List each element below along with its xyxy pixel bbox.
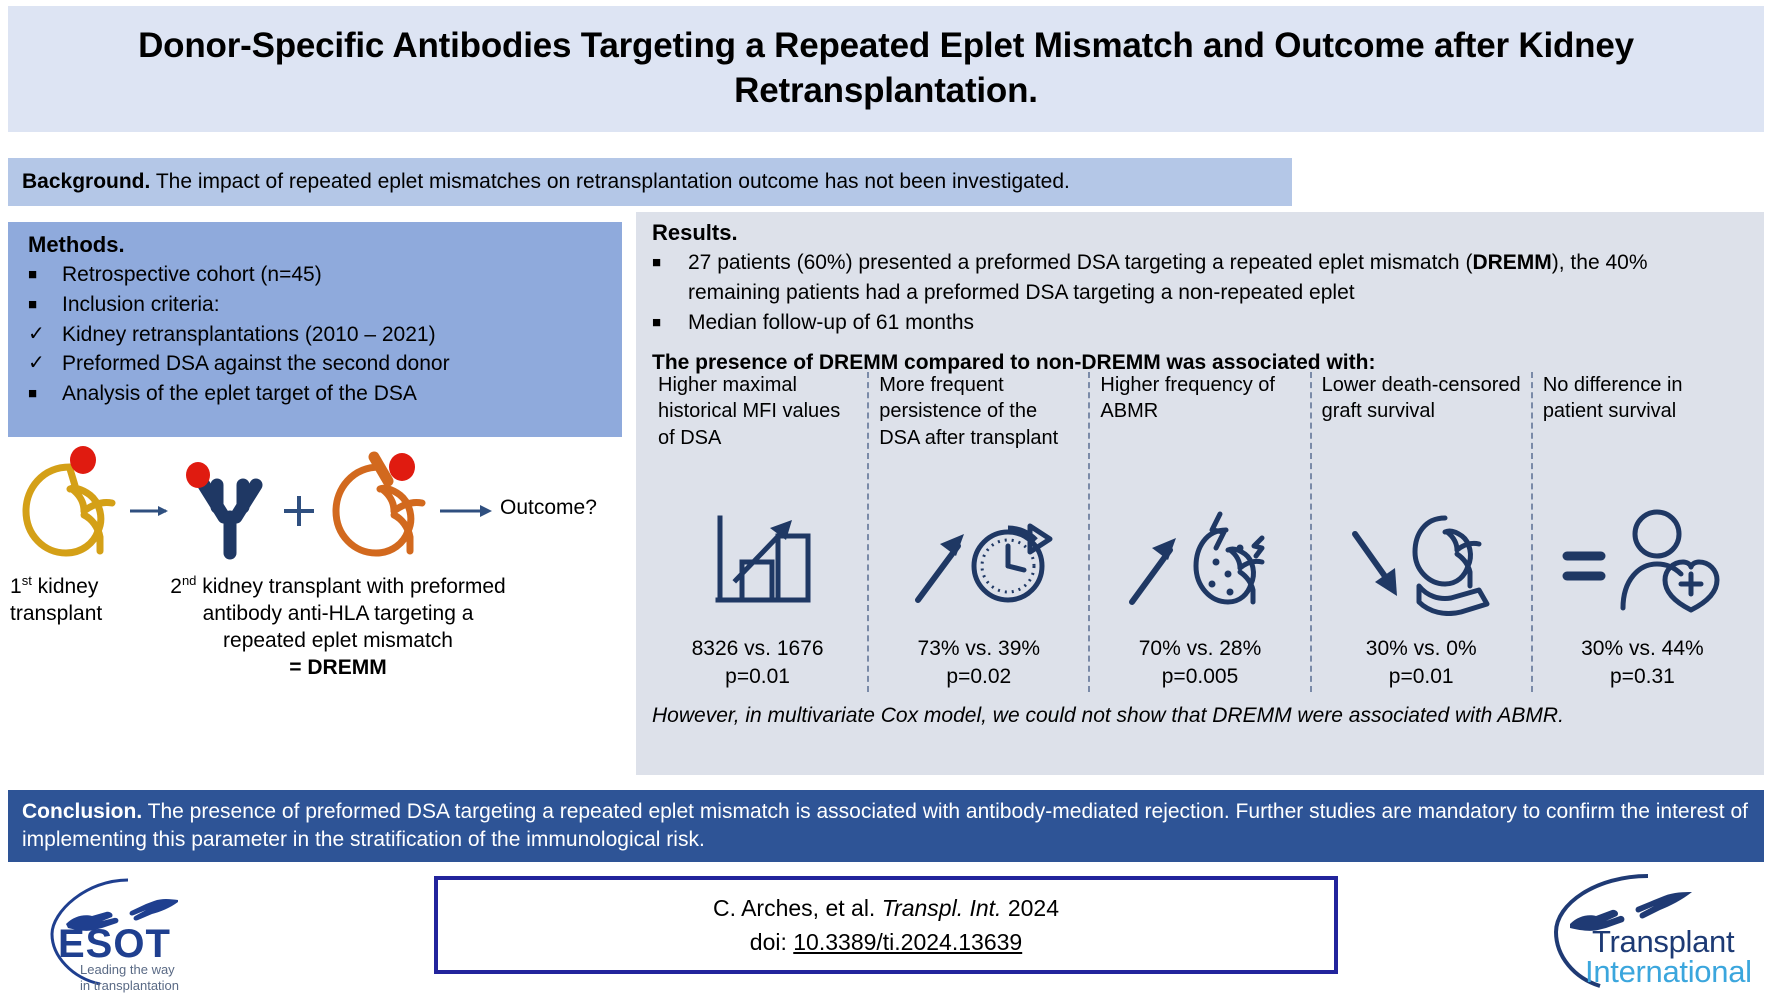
results-item-1: Median follow-up of 61 months (688, 308, 974, 338)
kidney-yellow-icon (26, 467, 112, 553)
conclusion-label: Conclusion. (22, 800, 142, 823)
outcome-pvalue: p=0.01 (692, 663, 824, 690)
antibody-icon (204, 485, 256, 553)
arrow-right-1-icon (130, 506, 168, 516)
study-design-diagram: Outcome? 1st kidney transplant 2nd kidne… (8, 445, 622, 775)
outcome-label: Lower death-censored graft survival (1322, 372, 1521, 484)
page-title: Donor-Specific Antibodies Targeting a Re… (56, 24, 1716, 114)
international-wordmark: International (1585, 954, 1752, 990)
doi-link[interactable]: 10.3389/ti.2024.13639 (793, 929, 1022, 955)
methods-heading: Methods. (8, 222, 622, 260)
square-bullet-icon: ■ (652, 248, 688, 273)
check-bullet-icon: ✓ (28, 320, 62, 348)
check-bullet-icon: ✓ (28, 349, 62, 377)
methods-item-label: Retrospective cohort (n=45) (62, 260, 322, 290)
square-bullet-icon: ■ (28, 260, 62, 285)
citation-line: C. Arches, et al. Transpl. Int. 2024 (713, 891, 1059, 926)
outcome-pvalue: p=0.02 (918, 663, 1041, 690)
outcome-column-graft-survival: Lower death-censored graft survival (1310, 372, 1531, 692)
plus-icon (284, 496, 314, 526)
square-bullet-icon: ■ (28, 379, 62, 404)
footer: ESOT Leading the way in transplantation … (0, 866, 1772, 998)
list-item: ■ Median follow-up of 61 months (652, 308, 1740, 338)
ordinal-suffix: st (22, 573, 32, 588)
list-item: ✓ Kidney retransplantations (2010 – 2021… (28, 320, 622, 350)
doi-line: doi: 10.3389/ti.2024.13639 (750, 925, 1022, 960)
dremm-definition: = DREMM (289, 656, 386, 679)
kidney-rejection-icon (1100, 484, 1299, 635)
antibody-small-icon (374, 457, 388, 481)
results-list: ■ 27 patients (60%) presented a preforme… (636, 248, 1764, 337)
results-heading: Results. (636, 212, 1764, 248)
caption-second-transplant: 2nd kidney transplant with preformed ant… (168, 573, 508, 682)
diagram-icons-row: Outcome? (8, 445, 622, 570)
outcome-value: 70% vs. 28% p=0.005 (1139, 635, 1262, 692)
outcome-value: 30% vs. 0% p=0.01 (1366, 635, 1477, 692)
background-label: Background. (22, 170, 150, 193)
methods-item-label: Analysis of the eplet target of the DSA (62, 379, 417, 409)
list-item: ■ Retrospective cohort (n=45) (28, 260, 622, 290)
methods-list: ■ Retrospective cohort (n=45) ■ Inclusio… (8, 260, 622, 409)
title-banner: Donor-Specific Antibodies Targeting a Re… (8, 6, 1764, 132)
multivariate-note: However, in multivariate Cox model, we c… (652, 702, 1752, 729)
caption-first-transplant: 1st kidney transplant (10, 573, 160, 628)
methods-section: Methods. ■ Retrospective cohort (n=45) ■… (8, 222, 622, 437)
methods-item-label: Preformed DSA against the second donor (62, 349, 450, 379)
outcome-value: 73% vs. 39% p=0.02 (918, 635, 1041, 692)
conclusion-text: Conclusion. The presence of preformed DS… (8, 798, 1764, 853)
methods-item-label: Kidney retransplantations (2010 – 2021) (62, 320, 436, 350)
methods-item-label: Inclusion criteria: (62, 290, 220, 320)
square-bullet-icon: ■ (28, 290, 62, 315)
square-bullet-icon: ■ (652, 308, 688, 333)
list-item: ✓ Preformed DSA against the second donor (28, 349, 622, 379)
outcome-value: 8326 vs. 1676 p=0.01 (692, 635, 824, 692)
background-body: The impact of repeated eplet mismatches … (156, 170, 1070, 193)
antigen-red-icon (186, 462, 210, 488)
outcome-label: More frequent persistence of the DSA aft… (879, 372, 1078, 484)
journal-name: Transpl. Int. (882, 895, 1002, 921)
antigen-red-icon (389, 453, 415, 481)
outcome-column-mfi: Higher maximal historical MFI values of … (648, 372, 867, 692)
list-item: ■ Inclusion criteria: (28, 290, 622, 320)
results-section: Results. ■ 27 patients (60%) presented a… (636, 212, 1764, 775)
antigen-red-icon (70, 446, 96, 474)
bar-chart-up-icon (658, 484, 857, 635)
outcome-column-persistence: More frequent persistence of the DSA aft… (867, 372, 1088, 692)
outcome-label: No difference in patient survival (1543, 372, 1742, 484)
outcome-value: 30% vs. 44% p=0.31 (1581, 635, 1704, 692)
outcome-pvalue: p=0.01 (1366, 663, 1477, 690)
background-section: Background. The impact of repeated eplet… (8, 158, 1292, 206)
esot-wordmark: ESOT (58, 922, 171, 967)
outcome-label: Higher maximal historical MFI values of … (658, 372, 857, 484)
kidney-orange-icon (336, 467, 422, 553)
outcome-column-patient-survival: No difference in patient survival (1531, 372, 1752, 692)
patient-equals-icon (1543, 484, 1742, 635)
graphical-abstract-page: Donor-Specific Antibodies Targeting a Re… (0, 0, 1772, 998)
conclusion-body: The presence of preformed DSA targeting … (22, 800, 1748, 851)
outcome-pvalue: p=0.005 (1139, 663, 1262, 690)
conclusion-section: Conclusion. The presence of preformed DS… (8, 790, 1764, 862)
esot-tagline: Leading the way in transplantation (80, 962, 179, 995)
arrow-right-2-icon (440, 505, 492, 517)
outcome-pvalue: p=0.31 (1581, 663, 1704, 690)
kidney-in-hand-down-icon (1322, 484, 1521, 635)
ordinal-suffix: nd (182, 573, 196, 588)
outcome-label: Higher frequency of ABMR (1100, 372, 1299, 484)
citation-box: C. Arches, et al. Transpl. Int. 2024 doi… (434, 876, 1338, 974)
results-item-0: 27 patients (60%) presented a preformed … (688, 248, 1740, 308)
list-item: ■ Analysis of the eplet target of the DS… (28, 379, 622, 409)
clock-arrow-icon (879, 484, 1078, 635)
association-heading: The presence of DREMM compared to non-DR… (636, 337, 1764, 375)
list-item: ■ 27 patients (60%) presented a preforme… (652, 248, 1740, 308)
outcome-label: Outcome? (500, 495, 620, 522)
outcome-column-abmr: Higher frequency of ABMR (1088, 372, 1309, 692)
background-text: Background. The impact of repeated eplet… (8, 169, 1070, 194)
outcome-columns: Higher maximal historical MFI values of … (648, 372, 1752, 692)
